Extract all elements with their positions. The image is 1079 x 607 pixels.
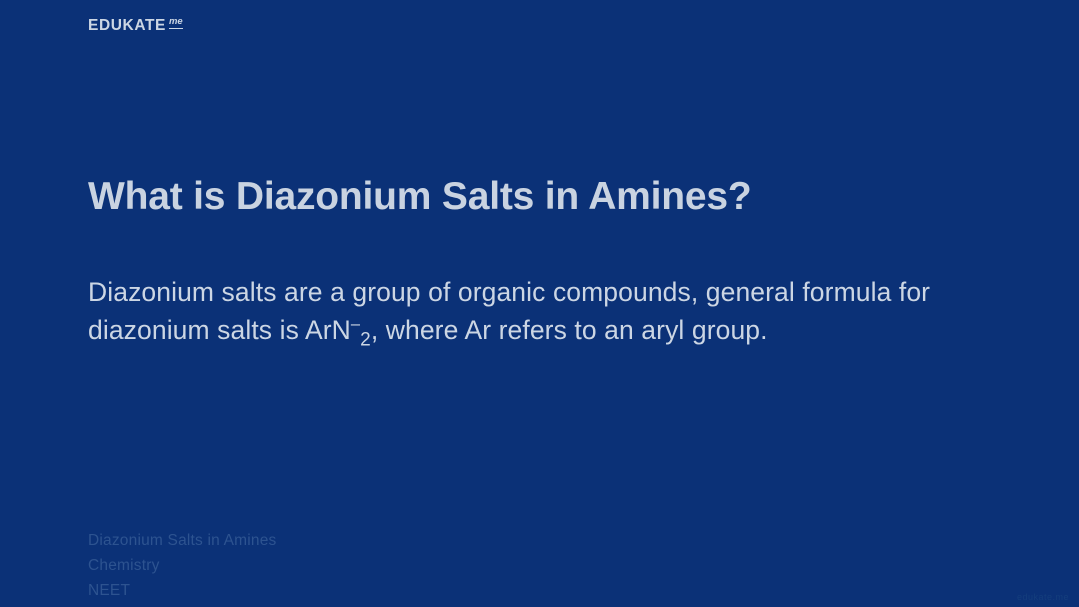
brand-logo[interactable]: EDUKATE me bbox=[88, 18, 183, 34]
footer-subject: Chemistry bbox=[88, 553, 277, 578]
formula-count-subscript: 2 bbox=[360, 329, 371, 350]
brand-suffix: me bbox=[169, 17, 183, 29]
footer-topic: Diazonium Salts in Amines bbox=[88, 528, 277, 553]
body-segment-2: , where Ar refers to an aryl group. bbox=[371, 315, 768, 345]
footer-exam: NEET bbox=[88, 578, 277, 603]
slide-canvas: EDUKATE me What is Diazonium Salts in Am… bbox=[0, 0, 1079, 607]
slide-title: What is Diazonium Salts in Amines? bbox=[88, 174, 988, 220]
slide-body-text: Diazonium salts are a group of organic c… bbox=[88, 273, 993, 350]
slide-footer: Diazonium Salts in Amines Chemistry NEET bbox=[88, 528, 277, 603]
formula-charge-superscript: – bbox=[351, 315, 360, 333]
brand-name: EDUKATE bbox=[88, 18, 166, 34]
corner-watermark: edukate.me bbox=[1017, 592, 1069, 602]
